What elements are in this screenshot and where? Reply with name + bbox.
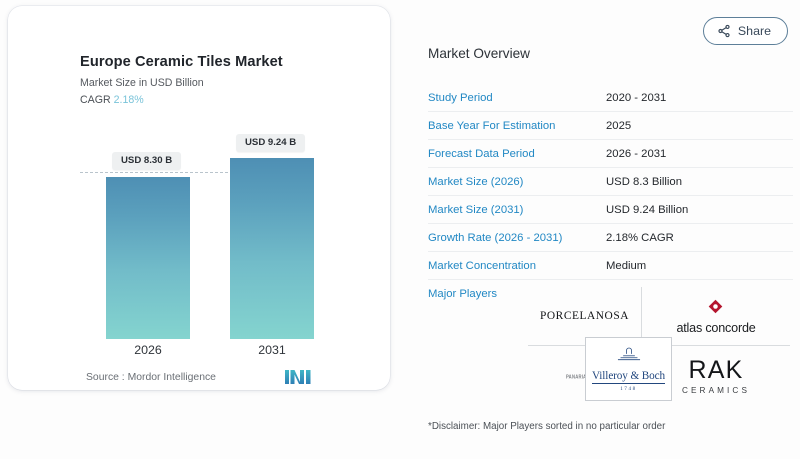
overview-key: Market Size (2026) (428, 176, 606, 188)
disclaimer-text: *Disclaimer: Major Players sorted in no … (428, 421, 665, 432)
chart-source: Source : Mordor Intelligence (86, 372, 216, 383)
villeroy-fountain-icon (616, 347, 642, 367)
overview-value: 2.18% CAGR (606, 232, 674, 244)
overview-key: Market Concentration (428, 260, 606, 272)
overview-title: Market Overview (428, 46, 530, 61)
x-axis-label-2026: 2026 (106, 343, 190, 357)
rak-subtext: CERAMICS (682, 386, 750, 395)
overview-value: 2025 (606, 120, 631, 132)
table-row: Market Size (2031) USD 9.24 Billion (428, 196, 793, 224)
overview-key: Market Size (2031) (428, 204, 606, 216)
overview-key: Base Year For Estimation (428, 120, 606, 132)
atlas-diamond-icon (707, 298, 724, 320)
villeroy-boch-year: 1748 (620, 387, 636, 392)
page-root: Share Europe Ceramic Tiles Market Market… (0, 0, 800, 459)
overview-table: Study Period 2020 - 2031 Base Year For E… (428, 84, 793, 307)
logo-cell-villeroy-boch: Villeroy & Boch 1748 (585, 337, 672, 401)
overview-value: USD 8.3 Billion (606, 176, 682, 188)
chart-source-label: Source : Mordor Intelligence (86, 372, 216, 383)
mordor-intelligence-logo (284, 369, 312, 385)
overview-value: Medium (606, 260, 646, 272)
bar-2026 (106, 177, 190, 339)
bar-label-2031: USD 9.24 B (236, 134, 305, 152)
overview-value: 2026 - 2031 (606, 148, 666, 160)
chart-card: Europe Ceramic Tiles Market Market Size … (8, 6, 390, 390)
x-axis-label-2031: 2031 (230, 343, 314, 357)
overview-value: USD 9.24 Billion (606, 204, 688, 216)
overview-value: 2020 - 2031 (606, 92, 666, 104)
atlas-concorde-logo: atlas concorde (676, 298, 755, 335)
rak-wordmark: RAK (688, 358, 743, 383)
table-row: Base Year For Estimation 2025 (428, 112, 793, 140)
atlas-concorde-wordmark: atlas concorde (676, 321, 755, 335)
villeroy-boch-wordmark: Villeroy & Boch (592, 370, 665, 384)
table-row: Market Concentration Medium (428, 252, 793, 280)
table-row: Market Size (2026) USD 8.3 Billion (428, 168, 793, 196)
overview-key: Forecast Data Period (428, 148, 606, 160)
rak-ceramics-logo: RAK CERAMICS (682, 358, 750, 395)
bar-chart-plot: USD 8.30 B USD 9.24 B 2026 2031 (8, 6, 390, 390)
table-row: Study Period 2020 - 2031 (428, 84, 793, 112)
table-row: Forecast Data Period 2026 - 2031 (428, 140, 793, 168)
bar-label-2026: USD 8.30 B (112, 152, 181, 170)
porcelanosa-logo: PORCELANOSA (540, 310, 629, 322)
overview-key: Study Period (428, 92, 606, 104)
bar-2031 (230, 158, 314, 339)
table-row: Growth Rate (2026 - 2031) 2.18% CAGR (428, 224, 793, 252)
overview-key: Growth Rate (2026 - 2031) (428, 232, 606, 244)
market-overview-panel: Market Overview Study Period 2020 - 2031… (410, 0, 800, 459)
